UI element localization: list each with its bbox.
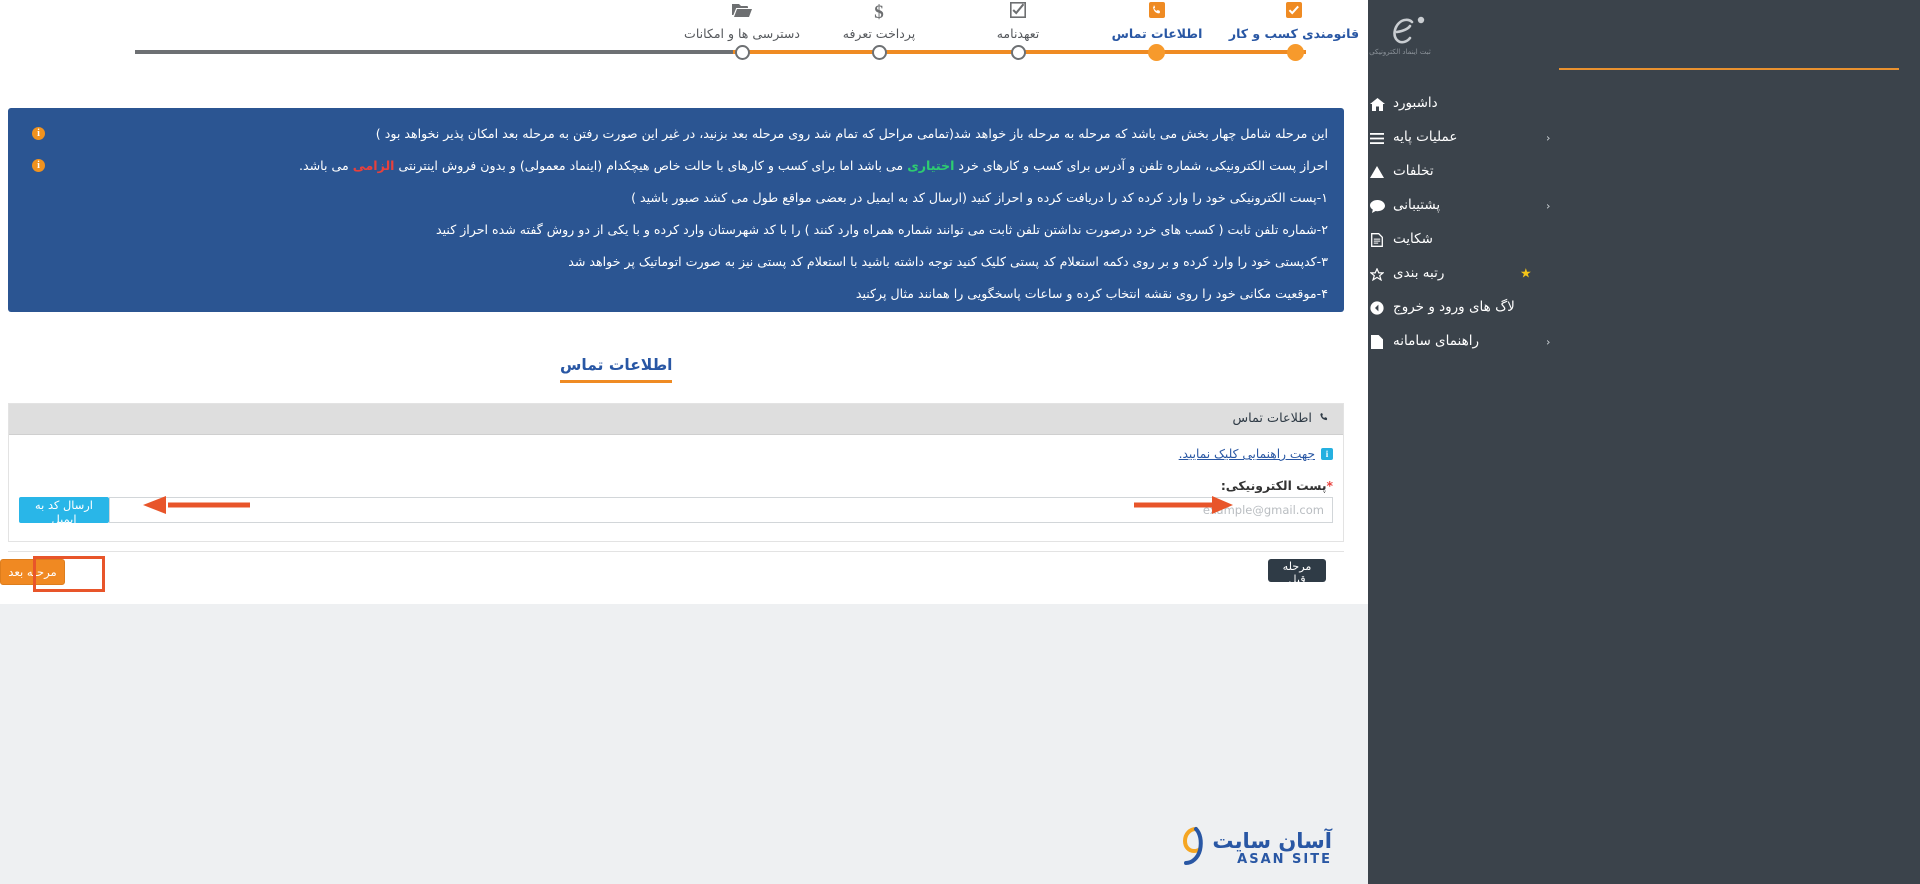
step-taahodnameh[interactable]: تعهدنامه (943, 2, 1093, 41)
info-line-5: ۳-کدپستی خود را وارد کرده و بر روی دکمه … (24, 246, 1328, 278)
email-label-text: پست الکترونیکی: (1221, 478, 1327, 493)
sidebar-item-label: لاگ های ورود و خروج (1393, 301, 1515, 315)
info-badge-icon: i (1321, 448, 1333, 460)
sidebar-nav: داشبورد ‹ عملیات پایه تخلفات ‹ (1368, 87, 1920, 359)
star-badge-icon: ★ (1520, 268, 1532, 281)
required-tag: الزامی (353, 158, 395, 173)
file-icon (1368, 334, 1386, 350)
info-line-5-text: ۳-کدپستی خود را وارد کرده و بر روی دکمه … (24, 246, 1328, 278)
panel-body: i جهت راهنمایی کلیک نمایید. *پست الکترون… (9, 435, 1343, 542)
sidebar-item-violations[interactable]: تخلفات (1368, 155, 1920, 189)
info-line-1: i این مرحله شامل چهار بخش می باشد که مرح… (24, 118, 1328, 150)
info-line-3-text: ۱-پست الکترونیکی خود را وارد کرده کد را … (24, 182, 1328, 214)
instructions-info-box: i این مرحله شامل چهار بخش می باشد که مرح… (8, 108, 1344, 312)
sidebar-item-support[interactable]: ‹ پشتیبانی (1368, 189, 1920, 223)
app-root: دسترسی ها و امکانات $ پرداخت تعرفه تعهدن… (0, 0, 1920, 884)
info-line-2-text: احراز پست الکترونیکی، شماره تلفن و آدرس … (45, 150, 1328, 182)
info-line-2-post: می باشد. (299, 158, 353, 173)
star-outline-icon (1368, 266, 1386, 282)
optional-tag: اختیاری (907, 158, 954, 173)
warning-triangle-icon (1368, 164, 1386, 180)
comment-icon (1368, 198, 1386, 214)
sidebar-item-label: تخلفات (1393, 165, 1434, 179)
enamad-logo-icon: ثبت اینماد الکترونیکی (1368, 9, 1432, 59)
info-line-2-pre: احراز پست الکترونیکی، شماره تلفن و آدرس … (954, 158, 1328, 173)
step-label: دسترسی ها و امکانات (667, 26, 817, 41)
info-line-6: ۴-موقعیت مکانی خود را روی نقشه انتخاب کر… (24, 278, 1328, 310)
annotation-arrow-to-input (1134, 494, 1234, 516)
chevron-left-icon: ‹ (1546, 201, 1550, 212)
info-line-3: ۱-پست الکترونیکی خود را وارد کرده کد را … (24, 182, 1328, 214)
sidebar-logo[interactable]: ثبت اینماد الکترونیکی (1368, 6, 1920, 62)
info-circle-icon: i (32, 127, 45, 140)
panel-header: اطلاعات تماس (9, 404, 1343, 435)
help-link-text[interactable]: جهت راهنمایی کلیک نمایید. (1179, 447, 1315, 461)
send-code-to-email-button[interactable]: ارسال کد به ایمیل (19, 497, 109, 523)
watermark-fa: آسان سایت (1212, 830, 1332, 852)
section-title: اطلاعات تماس (560, 355, 1344, 383)
folder-open-icon (667, 2, 817, 24)
phone-icon (1082, 2, 1232, 24)
sidebar-item-label: پشتیبانی (1393, 199, 1440, 213)
file-icon (1368, 232, 1386, 248)
step-label: قانومندی کسب و کار (1219, 26, 1369, 41)
info-line-4-text: ۲-شماره تلفن ثابت ( کسب های خرد درصورت ن… (24, 214, 1328, 246)
check-square-filled-icon (1219, 2, 1369, 24)
dollar-icon: $ (804, 2, 954, 24)
step-ghanoonmandi[interactable]: قانومندی کسب و کار (1219, 2, 1369, 41)
stepper-knob-3[interactable] (1011, 45, 1026, 60)
sidebar-item-ranking[interactable]: ★ رتبه بندی (1368, 257, 1920, 291)
previous-step-button[interactable]: مرحله قبل (1268, 559, 1326, 582)
chevron-left-icon: ‹ (1546, 337, 1550, 348)
footer-divider (8, 551, 1344, 552)
home-icon (1368, 96, 1386, 112)
annotation-highlight-next-button (33, 556, 105, 592)
sidebar: ثبت اینماد الکترونیکی داشبورد ‹ عملیات پ… (1368, 0, 1920, 884)
sidebar-item-login-logs[interactable]: لاگ های ورود و خروج (1368, 291, 1920, 325)
help-link-row[interactable]: i جهت راهنمایی کلیک نمایید. (1179, 447, 1333, 461)
wizard-stepper: دسترسی ها و امکانات $ پرداخت تعرفه تعهدن… (0, 0, 1368, 68)
step-label: اطلاعات تماس (1082, 26, 1232, 41)
stepper-knob-5[interactable] (1287, 44, 1304, 61)
stepper-knob-4[interactable] (1148, 44, 1165, 61)
step-label: تعهدنامه (943, 26, 1093, 41)
sidebar-item-label: داشبورد (1393, 97, 1438, 111)
section-title-text: اطلاعات تماس (560, 356, 672, 383)
info-line-2: i احراز پست الکترونیکی، شماره تلفن و آدر… (24, 150, 1328, 182)
bars-icon (1368, 130, 1386, 146)
info-line-1-text: این مرحله شامل چهار بخش می باشد که مرحله… (45, 118, 1328, 150)
step-etelaat-tamas[interactable]: اطلاعات تماس (1082, 2, 1232, 41)
sidebar-divider (1559, 68, 1899, 70)
sidebar-item-complaint[interactable]: شکایت (1368, 223, 1920, 257)
contact-info-panel: اطلاعات تماس i جهت راهنمایی کلیک نمایید.… (8, 403, 1344, 542)
watermark-en: ASAN SITE (1212, 852, 1332, 867)
sidebar-item-label: رتبه بندی (1393, 267, 1444, 281)
watermark-text: آسان سایت ASAN SITE (1212, 830, 1332, 867)
step-dastresi-emkanat[interactable]: دسترسی ها و امکانات (667, 2, 817, 41)
logo-caption: ثبت اینماد الکترونیکی (1369, 48, 1431, 56)
watermark-logo-icon (1174, 826, 1204, 870)
sidebar-item-label: شکایت (1393, 233, 1433, 247)
watermark: آسان سایت ASAN SITE (1174, 826, 1332, 870)
required-asterisk: * (1327, 478, 1333, 493)
arrow-circle-left-icon (1368, 300, 1386, 316)
panel-header-title: اطلاعات تماس (1232, 413, 1312, 426)
sidebar-item-label: عملیات پایه (1393, 131, 1457, 145)
stepper-knob-2[interactable] (872, 45, 887, 60)
check-square-icon (943, 2, 1093, 24)
info-line-2-mid: می باشد اما برای کسب و کارهای با حالت خا… (395, 158, 908, 173)
step-pardakht-tarefe[interactable]: $ پرداخت تعرفه (804, 2, 954, 41)
sidebar-item-system-guide[interactable]: ‹ راهنمای سامانه (1368, 325, 1920, 359)
chevron-left-icon: ‹ (1546, 133, 1550, 144)
annotation-arrow-to-send-button (142, 494, 250, 516)
sidebar-item-base-operations[interactable]: ‹ عملیات پایه (1368, 121, 1920, 155)
page-footer-band (0, 604, 1368, 884)
info-line-4: ۲-شماره تلفن ثابت ( کسب های خرد درصورت ن… (24, 214, 1328, 246)
info-line-6-text: ۴-موقعیت مکانی خود را روی نقشه انتخاب کر… (24, 278, 1328, 310)
phone-icon (1319, 412, 1331, 426)
stepper-knob-1[interactable] (735, 45, 750, 60)
sidebar-item-dashboard[interactable]: داشبورد (1368, 87, 1920, 121)
info-circle-icon: i (32, 159, 45, 172)
stepper-track-inactive (135, 50, 741, 54)
step-label: پرداخت تعرفه (804, 26, 954, 41)
email-field-label: *پست الکترونیکی: (1221, 478, 1333, 493)
sidebar-item-label: راهنمای سامانه (1393, 335, 1479, 349)
